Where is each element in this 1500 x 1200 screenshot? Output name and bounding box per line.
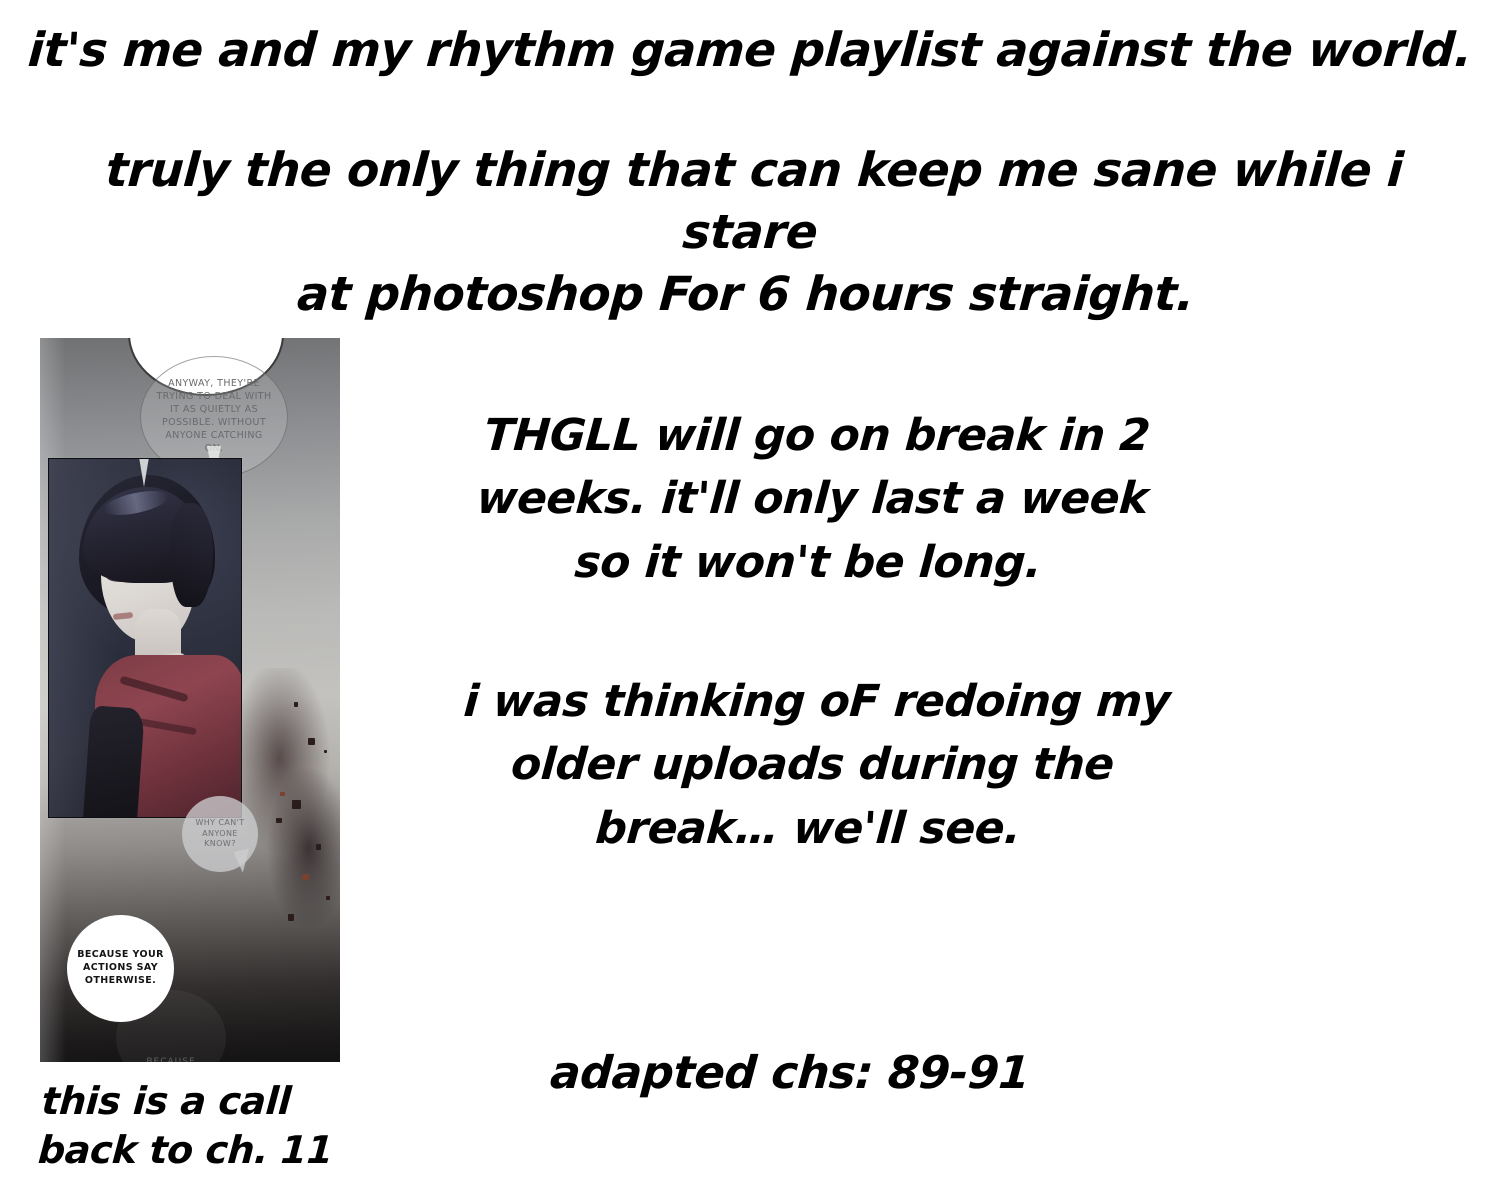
ash-fleck	[288, 914, 294, 921]
notes-column: THGLL will go on break in 2 weeks. it'll…	[440, 404, 1185, 860]
ash-fleck	[280, 792, 285, 796]
ash-fleck	[326, 896, 330, 900]
announcement-headline: it's me and my rhythm game playlist agai…	[0, 24, 1500, 78]
portrait-subpanel	[48, 458, 242, 818]
ash-fleck	[324, 750, 327, 753]
announcement-block: it's me and my rhythm game playlist agai…	[0, 24, 1500, 326]
comic-panel: ANYWAY, THEY'RE TRYING TO DEAL WITH IT A…	[40, 338, 340, 1062]
announcement-subline: truly the only thing that can keep me sa…	[0, 140, 1500, 326]
panel-caption: this is a call back to ch. 11	[37, 1077, 344, 1174]
ash-fleck	[302, 874, 309, 880]
because-balloon-text: BECAUSE YOUR ACTIONS SAY OTHERWISE.	[71, 949, 170, 988]
note-paragraph-break: THGLL will go on break in 2 weeks. it'll…	[433, 404, 1191, 594]
speech-balloon-because: BECAUSE YOUR ACTIONS SAY OTHERWISE.	[67, 915, 174, 1022]
ash-fleck	[308, 738, 315, 745]
narration-balloon-text: ANYWAY, THEY'RE TRYING TO DEAL WITH IT A…	[150, 378, 277, 455]
ash-fleck	[292, 800, 301, 809]
why-balloon-text: WHY CAN'T ANYONE KNOW?	[189, 818, 250, 851]
portrait-balloon-tail	[139, 458, 149, 487]
because-ghost-text: BECAUSE	[140, 1056, 201, 1062]
note-paragraph-reuploads: i was thinking oF redoing my older uploa…	[433, 670, 1191, 860]
ash-fleck	[294, 702, 298, 707]
adapted-chapters-credit: adapted chs: 89-91	[438, 1046, 1142, 1099]
character-dark-wrap	[83, 705, 145, 818]
ash-fleck	[316, 844, 321, 850]
ash-fleck	[276, 818, 282, 823]
character-hair-side-lock	[171, 503, 213, 607]
